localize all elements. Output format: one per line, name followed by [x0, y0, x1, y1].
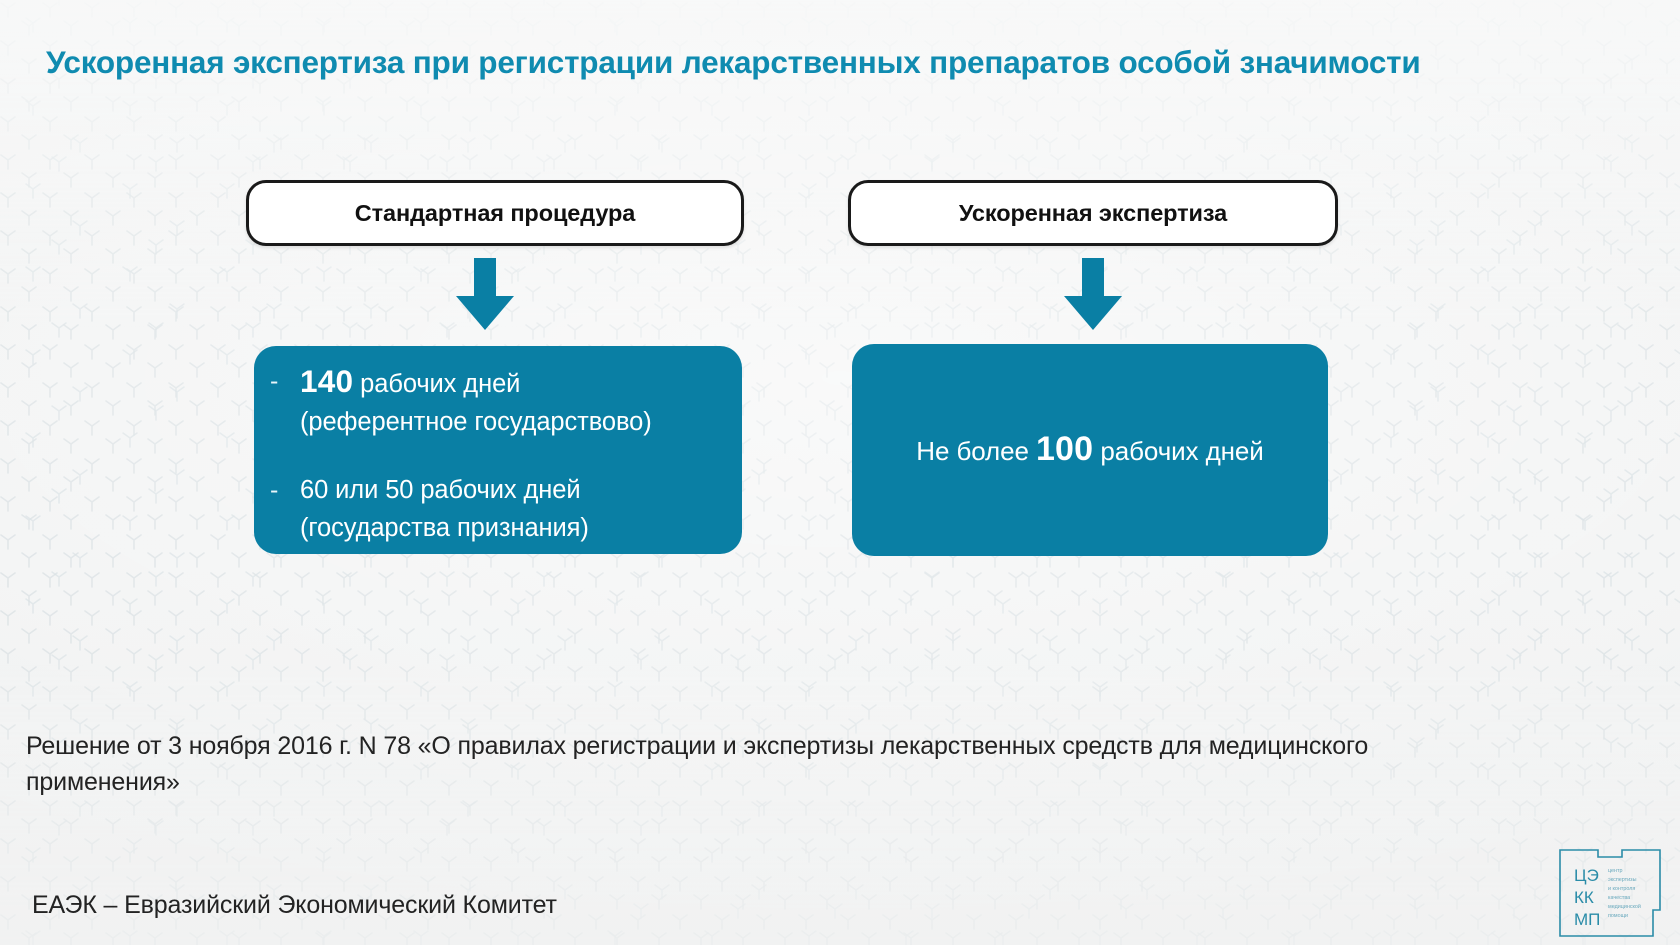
logo-line2: КК — [1574, 888, 1594, 907]
accelerated-statement-number: 100 — [1036, 430, 1093, 468]
logo-caption-line1: центр — [1608, 868, 1622, 874]
background-pattern — [0, 0, 1680, 945]
bullet-text: 60 или 50 рабочих дней (государства приз… — [300, 471, 589, 547]
logo-caption-line2: экспертизы — [1608, 877, 1637, 883]
background-vignette — [0, 0, 1680, 945]
content-box-accelerated-review: Не более 100 рабочих дней — [852, 344, 1328, 556]
arrow-down-icon — [1060, 258, 1126, 332]
arrow-down-icon — [452, 258, 518, 332]
accelerated-statement-suffix: рабочих дней — [1093, 436, 1263, 466]
content-box-standard-procedure: - 140 рабочих дней (референтное государс… — [254, 346, 742, 554]
footnote-abbreviation: ЕАЭК – Евразийский Экономический Комитет — [32, 888, 557, 922]
bullet-dash: - — [264, 471, 300, 509]
list-item: - 140 рабочих дней (референтное государс… — [264, 362, 720, 441]
bullet-dash: - — [264, 362, 300, 400]
list-item: - 60 или 50 рабочих дней (государства пр… — [264, 471, 720, 547]
header-box-standard-label: Стандартная процедура — [355, 200, 636, 227]
slide-root: Ускоренная экспертиза при регистрации ле… — [0, 0, 1680, 945]
logo-line3: МП — [1574, 910, 1600, 929]
logo-caption-line5: медицинской — [1608, 903, 1641, 910]
page-title: Ускоренная экспертиза при регистрации ле… — [46, 44, 1646, 81]
bullet-text-after-number: рабочих дней — [353, 370, 520, 398]
header-box-standard-procedure: Стандартная процедура — [246, 180, 744, 246]
bullet-second-line: (государства признания) — [300, 514, 589, 542]
bullet-text-after-number: 60 или 50 рабочих дней — [300, 476, 581, 504]
logo-caption-line6: помощи — [1608, 913, 1628, 919]
footnote-reference: Решение от 3 ноября 2016 г. N 78 «О прав… — [26, 728, 1446, 800]
bullet-second-line: (референтное государствово) — [300, 408, 652, 436]
accelerated-statement: Не более 100 рабочих дней — [916, 431, 1263, 469]
header-box-accelerated-label: Ускоренная экспертиза — [959, 200, 1227, 227]
header-box-accelerated-review: Ускоренная экспертиза — [848, 180, 1338, 246]
logo-line1: ЦЭ — [1574, 866, 1599, 885]
logo-caption-line3: и контроля — [1608, 886, 1635, 892]
cekkmp-logo: ЦЭ КК МП центр экспертизы и контроля кач… — [1558, 848, 1662, 938]
bullet-number: 140 — [300, 363, 353, 399]
standard-bullet-list: - 140 рабочих дней (референтное государс… — [264, 362, 720, 547]
logo-caption-line4: качества — [1608, 895, 1630, 901]
bullet-text: 140 рабочих дней (референтное государств… — [300, 362, 652, 441]
accelerated-statement-prefix: Не более — [916, 436, 1036, 466]
